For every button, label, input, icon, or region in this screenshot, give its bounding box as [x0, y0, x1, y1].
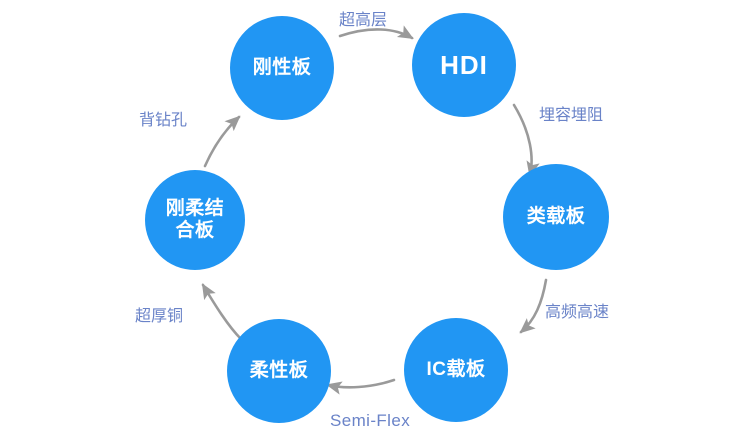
cycle-arrow-e2: [514, 105, 532, 175]
cycle-edge-label-e1: 超高层: [339, 6, 387, 30]
cycle-node-label: IC载板: [426, 359, 485, 381]
cycle-arrow-e6: [205, 117, 239, 166]
cycle-arrows-layer: [0, 0, 756, 442]
cycle-edge-label-e6: 背钻孔: [139, 106, 187, 130]
cycle-node-label: 刚性板: [253, 57, 312, 79]
cycle-edge-label-e5: 超厚铜: [135, 302, 183, 326]
cycle-node-flex[interactable]: 柔性板: [227, 319, 331, 423]
cycle-arrow-e1: [340, 29, 412, 38]
cycle-edge-label-e2: 埋容埋阻: [539, 101, 603, 125]
cycle-node-rigidflex[interactable]: 刚柔结 合板: [145, 170, 245, 270]
cycle-edge-label-e4: Semi-Flex: [330, 411, 410, 431]
cycle-node-label: 柔性板: [250, 360, 309, 382]
cycle-node-label: 刚柔结 合板: [166, 198, 225, 243]
cycle-node-label: 类载板: [527, 206, 586, 228]
cycle-node-rigid[interactable]: 刚性板: [230, 16, 334, 120]
cycle-node-hdi[interactable]: HDI: [412, 13, 516, 117]
cycle-arrow-e3: [521, 280, 546, 332]
cycle-edge-label-e3: 高频高速: [545, 298, 609, 322]
cycle-arrow-e5: [203, 285, 241, 339]
cycle-arrow-e4: [328, 380, 394, 387]
cycle-node-ic[interactable]: IC载板: [404, 318, 508, 422]
cycle-node-label: HDI: [440, 50, 488, 81]
cycle-node-substrate[interactable]: 类载板: [503, 164, 609, 270]
cycle-diagram: 刚性板HDI类载板IC载板柔性板刚柔结 合板 超高层埋容埋阻高频高速Semi-F…: [0, 0, 756, 442]
